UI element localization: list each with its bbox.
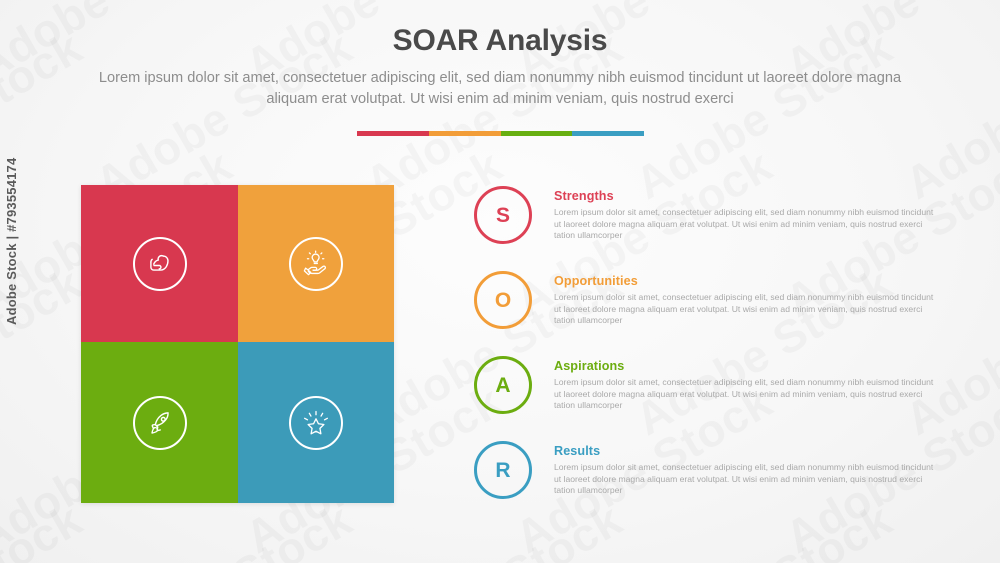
icon-ring: [289, 237, 343, 291]
letter-badge-a: A: [474, 356, 532, 414]
list-item-body: Lorem ipsum dolor sit amet, consectetuer…: [554, 292, 936, 327]
list-item-text: StrengthsLorem ipsum dolor sit amet, con…: [554, 189, 936, 242]
divider-segment-1: [357, 131, 429, 136]
list-item-title: Opportunities: [554, 274, 936, 288]
badge-letter: A: [495, 375, 510, 396]
list-item[interactable]: AAspirationsLorem ipsum dolor sit amet, …: [474, 356, 936, 441]
color-divider-bar: [357, 131, 644, 136]
badge-letter: R: [495, 460, 510, 481]
list-item[interactable]: SStrengthsLorem ipsum dolor sit amet, co…: [474, 186, 936, 271]
badge-letter: S: [496, 205, 510, 226]
list-item-body: Lorem ipsum dolor sit amet, consectetuer…: [554, 207, 936, 242]
list-item-text: OpportunitiesLorem ipsum dolor sit amet,…: [554, 274, 936, 327]
page-title: SOAR Analysis: [0, 24, 1000, 58]
flexed-bicep-icon: [145, 249, 175, 279]
list-item-title: Results: [554, 444, 936, 458]
letter-badge-r: R: [474, 441, 532, 499]
quadrant-grid: [81, 185, 394, 503]
strengths-quadrant[interactable]: [81, 185, 238, 342]
shining-star-icon: [301, 408, 331, 438]
list-item-text: ResultsLorem ipsum dolor sit amet, conse…: [554, 444, 936, 497]
soar-item-list: SStrengthsLorem ipsum dolor sit amet, co…: [474, 186, 936, 526]
divider-segment-2: [429, 131, 501, 136]
divider-segment-3: [501, 131, 573, 136]
opportunities-quadrant[interactable]: [238, 185, 394, 342]
list-item[interactable]: RResultsLorem ipsum dolor sit amet, cons…: [474, 441, 936, 526]
list-item[interactable]: OOpportunitiesLorem ipsum dolor sit amet…: [474, 271, 936, 356]
list-item-body: Lorem ipsum dolor sit amet, consectetuer…: [554, 462, 936, 497]
adobe-stock-credit: Adobe Stock | #793554174: [4, 158, 19, 325]
icon-ring: [289, 396, 343, 450]
results-quadrant[interactable]: [238, 342, 394, 503]
icon-ring: [133, 237, 187, 291]
list-item-title: Strengths: [554, 189, 936, 203]
page-subtitle: Lorem ipsum dolor sit amet, consectetuer…: [72, 68, 928, 110]
list-item-title: Aspirations: [554, 359, 936, 373]
list-item-body: Lorem ipsum dolor sit amet, consectetuer…: [554, 377, 936, 412]
infographic-canvas: Adobe StockAdobe StockAdobe StockAdobe S…: [0, 0, 1000, 563]
list-item-text: AspirationsLorem ipsum dolor sit amet, c…: [554, 359, 936, 412]
watermark-text: Adobe Stock: [0, 492, 91, 563]
letter-badge-s: S: [474, 186, 532, 244]
badge-letter: O: [495, 290, 511, 311]
icon-ring: [133, 396, 187, 450]
hand-lightbulb-icon: [301, 249, 331, 279]
rocket-icon: [145, 408, 175, 438]
aspirations-quadrant[interactable]: [81, 342, 238, 503]
letter-badge-o: O: [474, 271, 532, 329]
divider-segment-4: [572, 131, 644, 136]
